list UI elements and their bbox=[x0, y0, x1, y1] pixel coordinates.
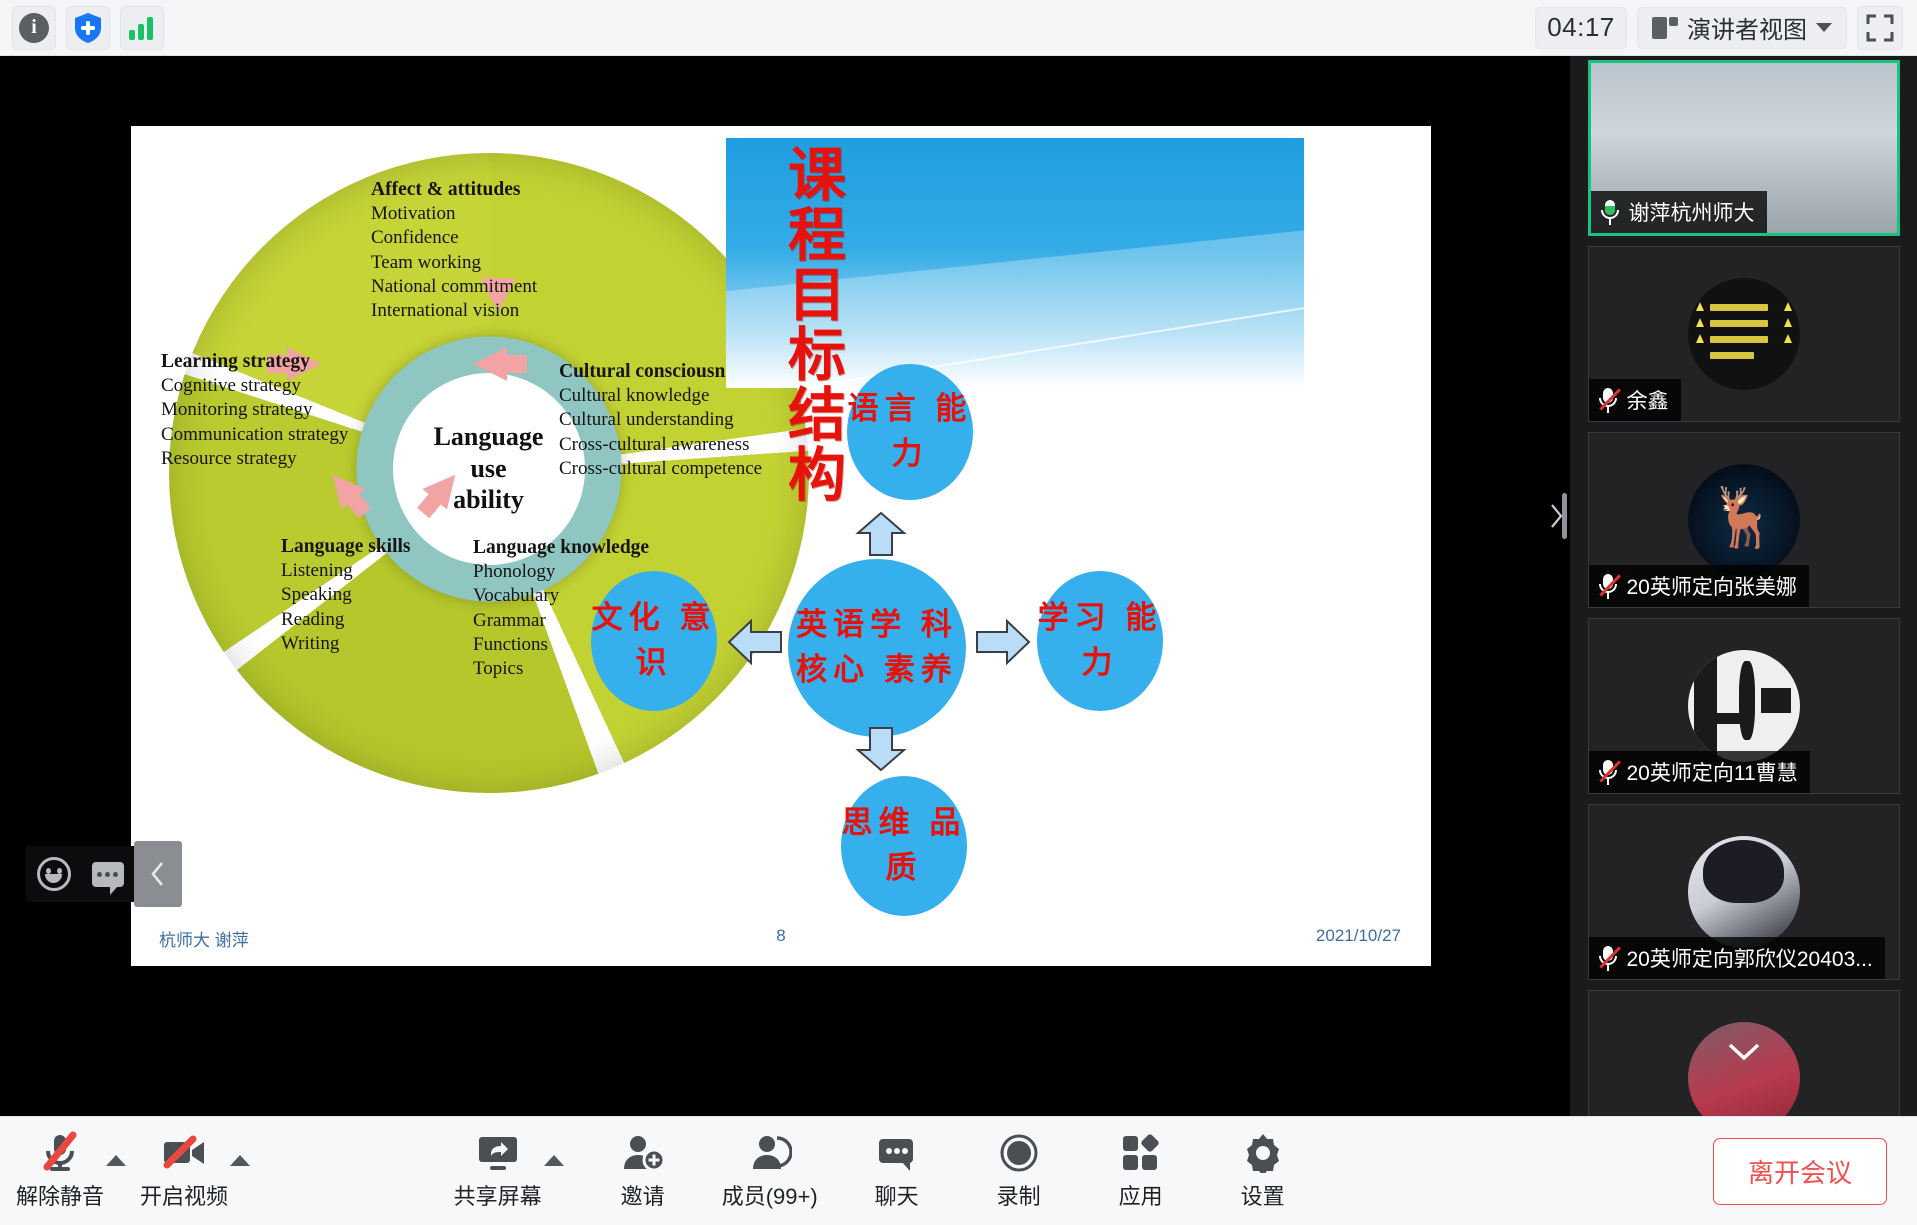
chevron-left-icon bbox=[148, 860, 168, 888]
encryption-shield-button[interactable] bbox=[66, 6, 110, 50]
invite-label: 邀请 bbox=[621, 1179, 665, 1211]
chat-label: 聊天 bbox=[875, 1179, 919, 1211]
bubble-learning-ability-text: 学习 能力 bbox=[1037, 596, 1163, 686]
segment-item: International vision bbox=[371, 299, 537, 323]
panel-resize-handle[interactable] bbox=[1562, 493, 1567, 539]
participant-tile[interactable]: 余鑫 bbox=[1588, 246, 1900, 422]
participants-strip[interactable]: 谢萍杭州师大 bbox=[1570, 56, 1917, 1116]
share-screen-icon bbox=[475, 1131, 521, 1173]
invite-user-icon bbox=[621, 1131, 665, 1173]
segment-item: Team working bbox=[371, 251, 537, 275]
network-stats-icon bbox=[128, 16, 156, 40]
participant-name: 余鑫 bbox=[1627, 385, 1669, 415]
meeting-window: i 04:17 演讲者视图 bbox=[0, 0, 1917, 1225]
segment-title: Language skills bbox=[281, 536, 411, 558]
segment-affect-attitudes: Affect & attitudes Motivation Confidence… bbox=[371, 179, 537, 324]
participant-namebar: 谢萍杭州师大 bbox=[1591, 191, 1767, 233]
apps-button[interactable]: 应用 bbox=[1098, 1131, 1184, 1211]
unmute-button[interactable]: 解除静音 bbox=[16, 1131, 104, 1211]
speaker-view-icon bbox=[1652, 17, 1678, 39]
bubble-cultural-awareness: 文化 意识 bbox=[591, 571, 717, 711]
participant-tile[interactable]: 🦌 20英师定向张美娜 bbox=[1588, 432, 1900, 608]
segment-item: Cognitive strategy bbox=[161, 374, 348, 398]
audio-options-chevron-icon[interactable] bbox=[106, 1155, 126, 1166]
wheel-center-line-1: Language bbox=[434, 421, 544, 453]
segment-item: Listening bbox=[281, 559, 411, 583]
bubble-language-ability-text: 语言 能力 bbox=[847, 387, 973, 477]
share-screen-label: 共享屏幕 bbox=[454, 1179, 542, 1211]
shared-screen-stage: Language use ability Affect & attitudes … bbox=[0, 56, 1570, 1116]
bubble-thinking-quality-text: 思维 品质 bbox=[841, 801, 967, 891]
share-control-group: 共享屏幕 bbox=[454, 1131, 564, 1211]
chat-button[interactable]: 聊天 bbox=[854, 1131, 940, 1211]
slide-footer: 杭师大 谢萍 8 2021/10/27 bbox=[131, 926, 1431, 948]
record-icon bbox=[998, 1131, 1040, 1173]
video-options-chevron-icon[interactable] bbox=[230, 1155, 250, 1166]
emoji-reaction-icon[interactable] bbox=[37, 857, 71, 891]
start-video-button[interactable]: 开启视频 bbox=[140, 1131, 228, 1211]
apps-label: 应用 bbox=[1119, 1179, 1163, 1211]
shield-plus-icon bbox=[73, 12, 103, 44]
arrow-left-icon bbox=[473, 347, 507, 381]
presentation-slide: Language use ability Affect & attitudes … bbox=[131, 126, 1431, 966]
info-icon: i bbox=[19, 13, 49, 43]
segment-item: Cultural understanding bbox=[559, 408, 762, 432]
participant-name: 谢萍杭州师大 bbox=[1629, 197, 1755, 227]
slide-footer-date: 2021/10/27 bbox=[1316, 926, 1401, 946]
audio-control-group: 解除静音 bbox=[16, 1131, 126, 1211]
participant-tile[interactable]: 谢萍杭州师大 bbox=[1588, 60, 1900, 236]
participants-icon bbox=[748, 1131, 792, 1173]
bottom-left-group: 解除静音 开启视频 bbox=[0, 1131, 250, 1211]
segment-language-skills: Language skills Listening Speaking Readi… bbox=[281, 536, 411, 656]
participant-tile[interactable]: 20英师定向郭欣仪20403... bbox=[1588, 804, 1900, 980]
slide-page-number: 8 bbox=[776, 926, 785, 946]
avatar-anime-boy bbox=[1688, 836, 1800, 948]
unmute-label: 解除静音 bbox=[16, 1179, 104, 1211]
avatar bbox=[1688, 650, 1800, 762]
meeting-timer: 04:17 bbox=[1535, 7, 1627, 49]
chat-bubble-icon[interactable] bbox=[92, 862, 124, 887]
share-options-chevron-icon[interactable] bbox=[544, 1155, 564, 1166]
settings-label: 设置 bbox=[1241, 1179, 1285, 1211]
segment-learning-strategy: Learning strategy Cognitive strategy Mon… bbox=[161, 351, 348, 471]
chat-icon bbox=[876, 1131, 918, 1173]
microphone-muted-icon bbox=[1597, 573, 1619, 599]
bubble-learning-ability: 学习 能力 bbox=[1037, 571, 1163, 711]
stage-reaction-bar bbox=[26, 846, 134, 902]
avatar-airport-sign bbox=[1688, 278, 1800, 390]
record-label: 录制 bbox=[997, 1179, 1041, 1211]
bubble-core-competency: 英语学 科核心 素养 bbox=[788, 559, 966, 737]
microphone-muted-icon bbox=[1597, 945, 1619, 971]
invite-button[interactable]: 邀请 bbox=[600, 1131, 686, 1211]
chevron-down-icon bbox=[1816, 23, 1832, 32]
microphone-muted-icon bbox=[1597, 759, 1619, 785]
participant-name: 20英师定向11曹慧 bbox=[1627, 757, 1798, 787]
topbar-right-group: 04:17 演讲者视图 bbox=[1535, 6, 1917, 50]
bubble-thinking-quality: 思维 品质 bbox=[841, 776, 967, 916]
segment-item: Communication strategy bbox=[161, 423, 348, 447]
segment-title: Learning strategy bbox=[161, 351, 348, 373]
video-control-group: 开启视频 bbox=[140, 1131, 250, 1211]
arrow-left-to-culture-icon bbox=[727, 618, 783, 666]
participant-tile[interactable]: 20英师定向11曹慧 bbox=[1588, 618, 1900, 794]
microphone-muted-icon bbox=[39, 1131, 81, 1173]
collapse-panel-button[interactable] bbox=[134, 841, 182, 907]
camera-off-icon bbox=[160, 1131, 208, 1173]
avatar-manga bbox=[1688, 650, 1800, 762]
segment-item: National commitment bbox=[371, 275, 537, 299]
bottom-right-group: 离开会议 bbox=[1713, 1138, 1917, 1205]
bubble-language-ability: 语言 能力 bbox=[847, 364, 973, 500]
segment-item: Reading bbox=[281, 608, 411, 632]
arrow-up-to-language-icon bbox=[854, 511, 908, 557]
wheel-center-label: Language use ability bbox=[393, 373, 585, 565]
avatar: 🦌 bbox=[1688, 464, 1800, 576]
arrow-down-to-thinking-icon bbox=[854, 726, 908, 772]
info-button[interactable]: i bbox=[12, 6, 56, 50]
segment-item: Speaking bbox=[281, 583, 411, 607]
segment-item: Cross-cultural competence bbox=[559, 457, 762, 481]
slide-title-vertical: 课程目标结构 bbox=[745, 144, 841, 504]
participant-namebar: 20英师定向郭欣仪20403... bbox=[1589, 937, 1885, 979]
view-mode-selector[interactable]: 演讲者视图 bbox=[1637, 7, 1847, 49]
segment-item: Confidence bbox=[371, 226, 537, 250]
segment-item: Writing bbox=[281, 632, 411, 656]
avatar-deer-patronus: 🦌 bbox=[1688, 464, 1800, 576]
segment-title: Affect & attitudes bbox=[371, 179, 537, 201]
top-toolbar: i 04:17 演讲者视图 bbox=[0, 0, 1917, 56]
participants-label: 成员(99+) bbox=[722, 1179, 818, 1211]
bubble-core-competency-text: 英语学 科核心 素养 bbox=[788, 603, 966, 693]
settings-button[interactable]: 设置 bbox=[1220, 1131, 1306, 1211]
arrow-right-to-learning-icon bbox=[975, 618, 1031, 666]
participant-namebar: 20英师定向11曹慧 bbox=[1589, 751, 1810, 793]
participant-namebar: 余鑫 bbox=[1589, 379, 1681, 421]
segment-item: Motivation bbox=[371, 202, 537, 226]
microphone-muted-icon bbox=[1597, 387, 1619, 413]
participant-namebar: 20英师定向张美娜 bbox=[1589, 565, 1809, 607]
bottom-toolbar: 解除静音 开启视频 bbox=[0, 1116, 1917, 1225]
language-ability-wheel-diagram: Language use ability Affect & attitudes … bbox=[151, 141, 826, 796]
record-button[interactable]: 录制 bbox=[976, 1131, 1062, 1211]
bottom-center-group: 共享屏幕 邀请 bbox=[454, 1131, 1306, 1211]
share-screen-button[interactable]: 共享屏幕 bbox=[454, 1131, 542, 1211]
gear-icon bbox=[1242, 1131, 1284, 1173]
wheel-center-line-2: use bbox=[470, 453, 506, 485]
avatar bbox=[1688, 278, 1800, 390]
avatar bbox=[1688, 836, 1800, 948]
fullscreen-icon bbox=[1866, 14, 1894, 42]
slide-footer-author: 杭师大 谢萍 bbox=[159, 926, 249, 951]
segment-item: Monitoring strategy bbox=[161, 398, 348, 422]
microphone-on-icon bbox=[1599, 199, 1621, 225]
leave-meeting-button[interactable]: 离开会议 bbox=[1713, 1138, 1887, 1205]
apps-grid-icon bbox=[1120, 1131, 1162, 1173]
participants-button[interactable]: 成员(99+) bbox=[722, 1131, 818, 1211]
scroll-down-button[interactable] bbox=[1721, 1034, 1767, 1068]
bubble-cultural-awareness-text: 文化 意识 bbox=[591, 596, 717, 686]
network-quality-button[interactable] bbox=[120, 6, 164, 50]
participant-name: 20英师定向张美娜 bbox=[1627, 571, 1797, 601]
participant-name: 20英师定向郭欣仪20403... bbox=[1627, 943, 1873, 973]
segment-item: Cross-cultural awareness bbox=[559, 433, 762, 457]
start-video-label: 开启视频 bbox=[140, 1179, 228, 1211]
segment-title: Language knowledge bbox=[473, 537, 649, 559]
segment-item: Resource strategy bbox=[161, 447, 348, 471]
fullscreen-button[interactable] bbox=[1857, 6, 1903, 50]
view-mode-label: 演讲者视图 bbox=[1687, 10, 1807, 45]
chevron-down-icon bbox=[1724, 1039, 1764, 1063]
